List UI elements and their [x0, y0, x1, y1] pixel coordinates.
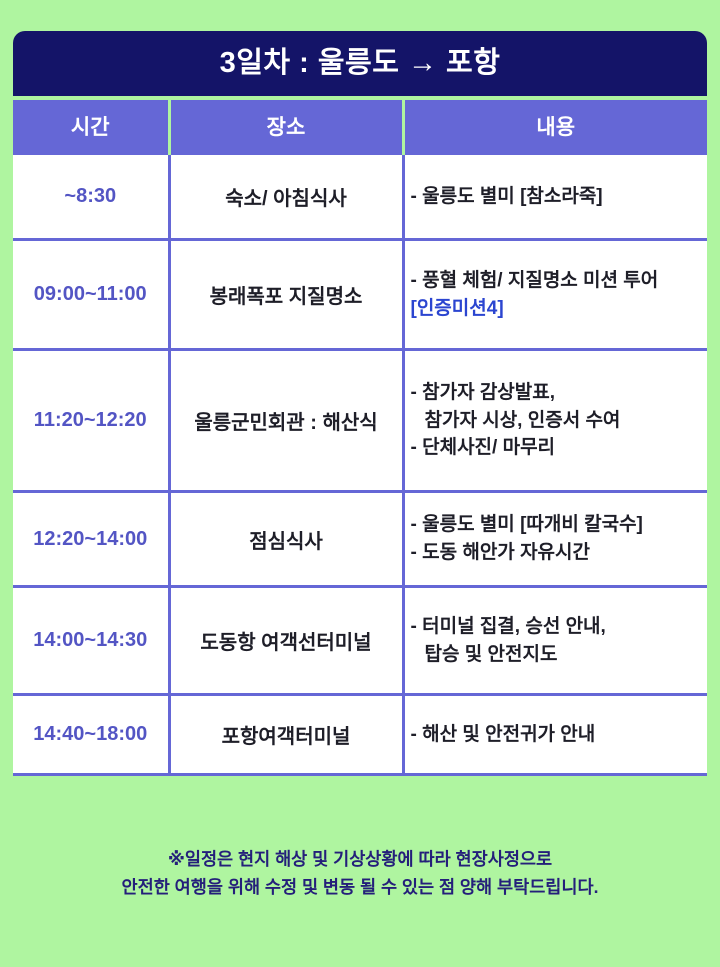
description-line: - 울릉도 별미 [참소라죽] — [411, 183, 702, 211]
column-header-place: 장소 — [169, 100, 403, 154]
description-line: 참가자 시상, 인증서 수여 — [411, 407, 702, 435]
cell-time: 11:20~12:20 — [13, 350, 169, 492]
description-line: - 터미널 집결, 승선 안내, — [411, 613, 702, 641]
cell-place: 봉래폭포 지질명소 — [169, 240, 403, 350]
cell-place: 포항여객터미널 — [169, 695, 403, 775]
table-row: 14:40~18:00포항여객터미널- 해산 및 안전귀가 안내 — [13, 695, 707, 775]
description-line: - 도동 해안가 자유시간 — [411, 539, 702, 567]
cell-time: ~8:30 — [13, 154, 169, 240]
cell-description: - 울릉도 별미 [따개비 칼국수]- 도동 해안가 자유시간 — [403, 492, 707, 587]
cell-place: 울릉군민회관 : 해산식 — [169, 350, 403, 492]
column-header-time: 시간 — [13, 100, 169, 154]
footnote-line-2: 안전한 여행을 위해 수정 및 변동 될 수 있는 점 양해 부탁드립니다. — [13, 873, 707, 901]
poster-title-bar: 3일차 : 울릉도 → 포항 — [13, 31, 707, 96]
cell-description: - 터미널 집결, 승선 안내,탑승 및 안전지도 — [403, 587, 707, 695]
description-line: - 참가자 감상발표, — [411, 379, 702, 407]
cell-time: 12:20~14:00 — [13, 492, 169, 587]
description-line: [인증미션4] — [411, 295, 702, 323]
description-line: - 풍혈 체험/ 지질명소 미션 투어 — [411, 267, 702, 295]
cell-place: 숙소/ 아침식사 — [169, 154, 403, 240]
table-row: 14:00~14:30도동항 여객선터미널- 터미널 집결, 승선 안내,탑승 … — [13, 587, 707, 695]
table-row: 09:00~11:00봉래폭포 지질명소- 풍혈 체험/ 지질명소 미션 투어[… — [13, 240, 707, 350]
description-line: - 해산 및 안전귀가 안내 — [411, 721, 702, 749]
cell-description: - 울릉도 별미 [참소라죽] — [403, 154, 707, 240]
schedule-table-container: 시간 장소 내용 ~8:30숙소/ 아침식사- 울릉도 별미 [참소라죽]09:… — [13, 100, 707, 824]
footnote: ※일정은 현지 해상 및 기상상황에 따라 현장사정으로 안전한 여행을 위해 … — [13, 845, 707, 902]
table-header: 시간 장소 내용 — [13, 100, 707, 154]
description-line: - 울릉도 별미 [따개비 칼국수] — [411, 511, 702, 539]
column-header-desc: 내용 — [403, 100, 707, 154]
description-line: - 단체사진/ 마무리 — [411, 434, 702, 462]
page-title: 3일차 : 울릉도 → 포항 — [220, 49, 501, 78]
table-row: 11:20~12:20울릉군민회관 : 해산식- 참가자 감상발표,참가자 시상… — [13, 350, 707, 492]
cell-time: 14:40~18:00 — [13, 695, 169, 775]
itinerary-poster: 3일차 : 울릉도 → 포항 시간 장소 내용 ~8:30숙소/ 아침식사- 울… — [0, 0, 720, 967]
footnote-line-1: ※일정은 현지 해상 및 기상상황에 따라 현장사정으로 — [13, 845, 707, 873]
table-body: ~8:30숙소/ 아침식사- 울릉도 별미 [참소라죽]09:00~11:00봉… — [13, 154, 707, 775]
cell-time: 14:00~14:30 — [13, 587, 169, 695]
table-header-row: 시간 장소 내용 — [13, 100, 707, 154]
schedule-table: 시간 장소 내용 ~8:30숙소/ 아침식사- 울릉도 별미 [참소라죽]09:… — [13, 100, 707, 776]
cell-time: 09:00~11:00 — [13, 240, 169, 350]
table-row: ~8:30숙소/ 아침식사- 울릉도 별미 [참소라죽] — [13, 154, 707, 240]
description-line: 탑승 및 안전지도 — [411, 641, 702, 669]
cell-description: - 해산 및 안전귀가 안내 — [403, 695, 707, 775]
cell-place: 도동항 여객선터미널 — [169, 587, 403, 695]
cell-description: - 참가자 감상발표,참가자 시상, 인증서 수여- 단체사진/ 마무리 — [403, 350, 707, 492]
table-row: 12:20~14:00점심식사- 울릉도 별미 [따개비 칼국수]- 도동 해안… — [13, 492, 707, 587]
cell-place: 점심식사 — [169, 492, 403, 587]
cell-description: - 풍혈 체험/ 지질명소 미션 투어[인증미션4] — [403, 240, 707, 350]
